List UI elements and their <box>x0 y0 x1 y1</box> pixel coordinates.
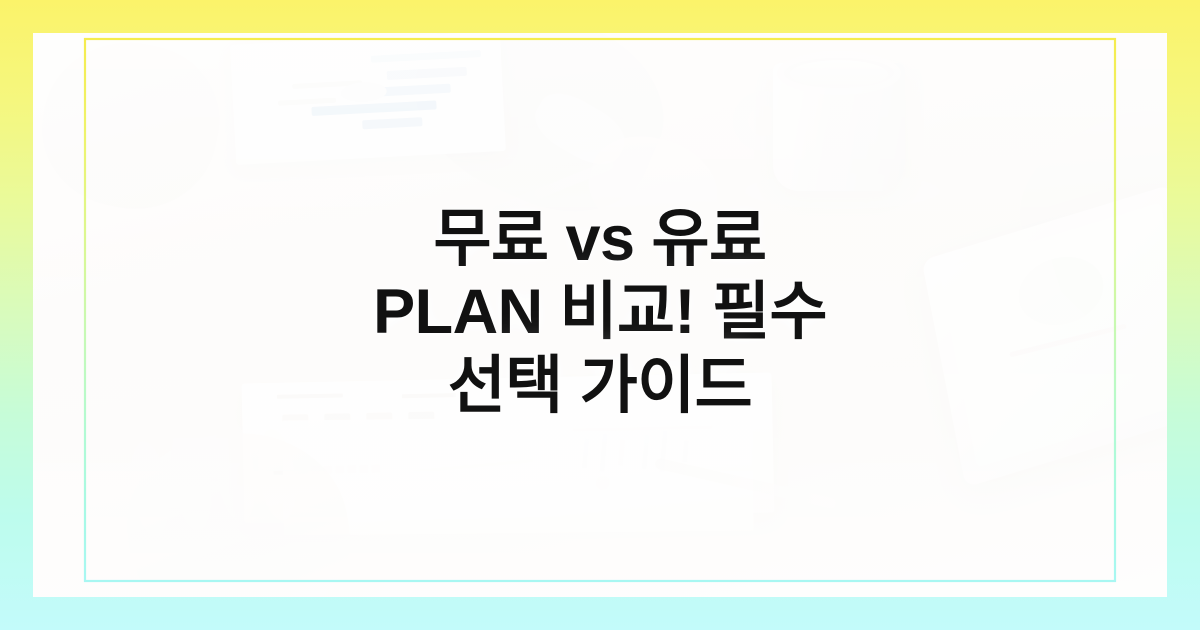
title-line-2: PLAN 비교! 필수 <box>373 276 827 349</box>
title-block: 무료 vs 유료 PLAN 비교! 필수 선택 가이드 <box>0 0 1200 630</box>
title-line-3: 선택 가이드 <box>448 350 752 423</box>
thumbnail-card: 무료 vs 유료 PLAN 비교! 필수 선택 가이드 <box>0 0 1200 630</box>
title-line-1: 무료 vs 유료 <box>434 203 767 276</box>
